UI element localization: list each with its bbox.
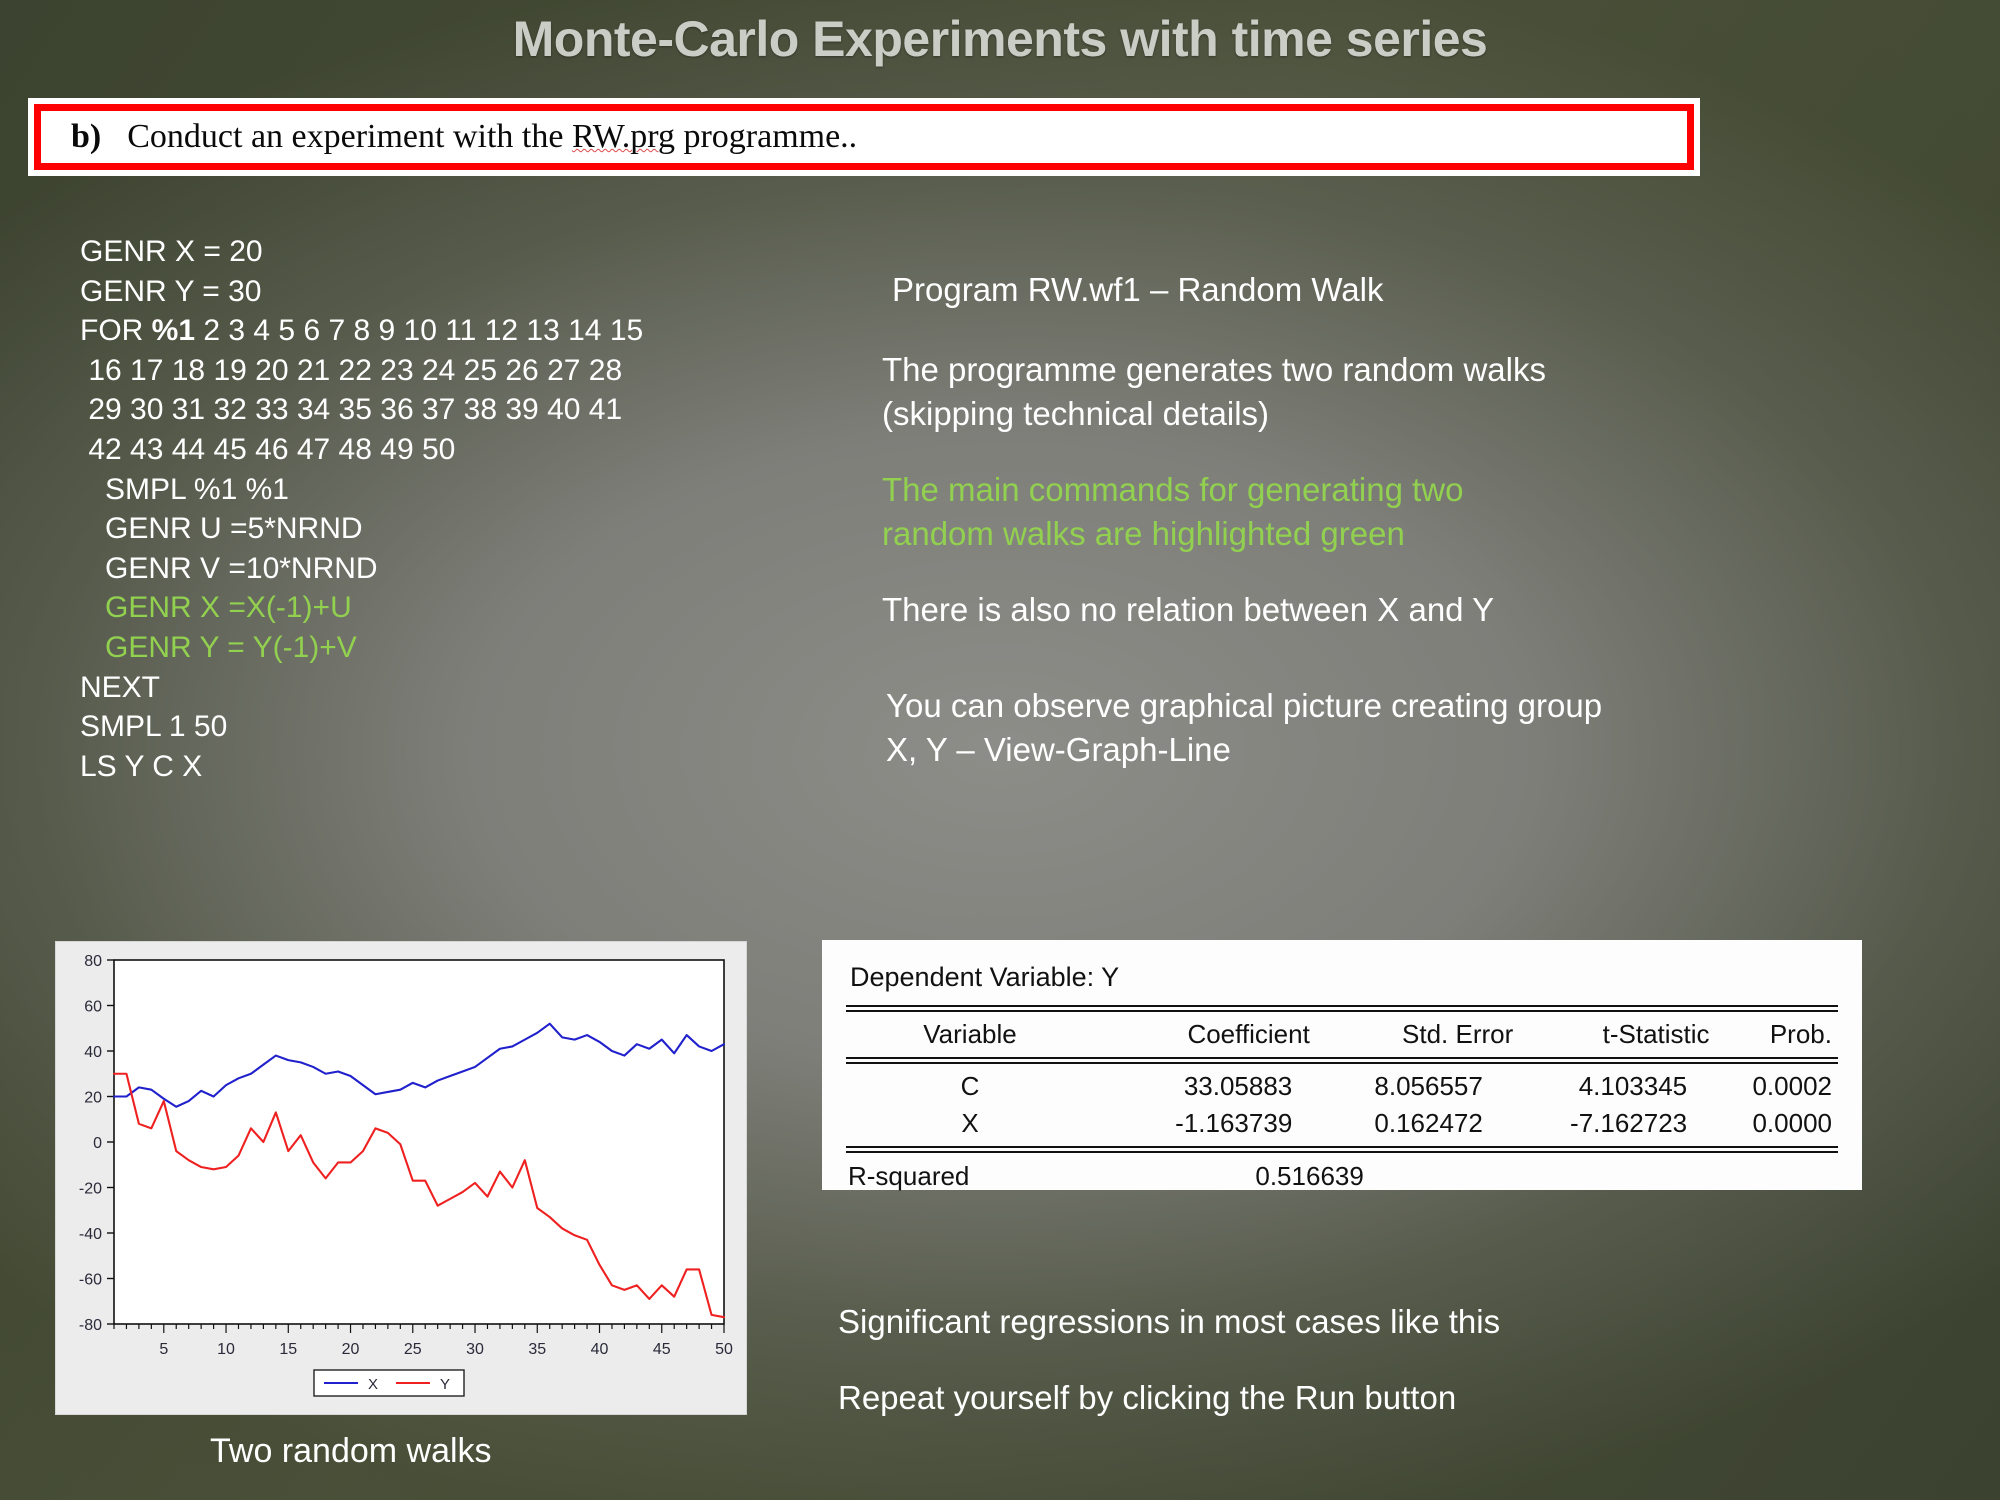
header-callout-text: b)Conduct an experiment with the RW.prg …	[41, 118, 857, 156]
plot-frame	[114, 960, 724, 1324]
regression-table-body: C33.058838.0565574.1033450.0002X-1.16373…	[846, 1068, 1838, 1142]
rsquared-value: 0.516639	[1096, 1161, 1364, 1192]
random-walk-chart: -80-60-40-200204060805101520253035404550…	[56, 942, 746, 1414]
regression-footer: R-squared 0.516639	[846, 1161, 1838, 1192]
x-tick-label: 5	[159, 1341, 168, 1358]
table-cell: 33.05883	[1094, 1068, 1298, 1105]
table-rule-top	[846, 1005, 1838, 1012]
y-tick-label: -60	[79, 1272, 102, 1289]
note-no-relation: There is also no relation between X and …	[882, 588, 1932, 632]
table-cell: -1.163739	[1094, 1105, 1298, 1142]
code-line: GENR X =X(-1)+U	[80, 588, 840, 628]
legend-label-Y: Y	[440, 1376, 450, 1393]
note-program-title: Program RW.wf1 – Random Walk	[892, 268, 1942, 312]
regression-table: Variable Coefficient Std. Error t-Statis…	[846, 1016, 1838, 1053]
code-line: 42 43 44 45 46 47 48 49 50	[80, 430, 840, 470]
y-tick-label: 60	[84, 999, 102, 1016]
note-observe-graph: You can observe graphical picture creati…	[886, 684, 1946, 772]
y-tick-label: 0	[93, 1135, 102, 1152]
header-text-before: Conduct an experiment with the	[127, 118, 572, 155]
col-header-std-error: Std. Error	[1316, 1016, 1519, 1053]
y-tick-label: -20	[79, 1181, 102, 1198]
table-rule-bottom	[846, 1146, 1838, 1153]
x-tick-label: 15	[279, 1341, 297, 1358]
header-text-filename: RW.prg	[572, 118, 675, 155]
y-tick-label: 20	[84, 1090, 102, 1107]
header-callout-inner: b)Conduct an experiment with the RW.prg …	[34, 104, 1694, 170]
y-tick-label: -80	[79, 1317, 102, 1334]
header-callout-box: b)Conduct an experiment with the RW.prg …	[28, 98, 1700, 176]
col-header-coefficient: Coefficient	[1094, 1016, 1316, 1053]
y-tick-label: 40	[84, 1044, 102, 1061]
rsquared-label: R-squared	[846, 1161, 1096, 1192]
note-repeat-run: Repeat yourself by clicking the Run butt…	[838, 1376, 1938, 1420]
header-item-label: b)	[71, 118, 101, 155]
table-row: C33.058838.0565574.1033450.0002	[846, 1068, 1838, 1105]
col-header-t-statistic: t-Statistic	[1519, 1016, 1715, 1053]
dependent-variable-label: Dependent Variable: Y	[850, 962, 1838, 993]
x-tick-label: 40	[591, 1341, 609, 1358]
x-tick-label: 50	[715, 1341, 733, 1358]
table-row: X-1.1637390.162472-7.1627230.0000	[846, 1105, 1838, 1142]
code-line: SMPL %1 %1	[80, 470, 840, 510]
slide-root: Monte-Carlo Experiments with time series…	[0, 0, 2000, 1500]
x-tick-label: 35	[528, 1341, 546, 1358]
x-tick-label: 25	[404, 1341, 422, 1358]
table-rule-mid	[846, 1057, 1838, 1064]
y-tick-label: 80	[84, 953, 102, 970]
code-line: 16 17 18 19 20 21 22 23 24 25 26 27 28	[80, 351, 840, 391]
note-significant-regressions: Significant regressions in most cases li…	[838, 1300, 1938, 1344]
note-generates: The programme generates two random walks…	[882, 348, 1902, 436]
code-line: LS Y C X	[80, 747, 840, 787]
code-line: FOR %1 2 3 4 5 6 7 8 9 10 11 12 13 14 15	[80, 311, 840, 351]
note-green-highlight: The main commands for generating two ran…	[882, 468, 1902, 556]
table-cell: 0.162472	[1298, 1105, 1489, 1142]
table-cell: 0.0000	[1693, 1105, 1838, 1142]
code-line: NEXT	[80, 668, 840, 708]
code-line: SMPL 1 50	[80, 707, 840, 747]
table-cell: X	[846, 1105, 1094, 1142]
col-header-variable: Variable	[846, 1016, 1094, 1053]
chart-caption: Two random walks	[210, 1432, 492, 1471]
regression-output-panel: Dependent Variable: Y Variable Coefficie…	[822, 940, 1862, 1190]
x-tick-label: 20	[342, 1341, 360, 1358]
table-cell: 4.103345	[1489, 1068, 1693, 1105]
table-cell: C	[846, 1068, 1094, 1105]
code-line: GENR Y = Y(-1)+V	[80, 628, 840, 668]
code-line: 29 30 31 32 33 34 35 36 37 38 39 40 41	[80, 390, 840, 430]
table-cell: 0.0002	[1693, 1068, 1838, 1105]
eviews-program-code: GENR X = 20GENR Y = 30FOR %1 2 3 4 5 6 7…	[80, 232, 840, 786]
x-tick-label: 45	[653, 1341, 671, 1358]
y-tick-label: -40	[79, 1226, 102, 1243]
x-tick-label: 30	[466, 1341, 484, 1358]
table-cell: 8.056557	[1298, 1068, 1489, 1105]
code-line: GENR V =10*NRND	[80, 549, 840, 589]
code-line: GENR X = 20	[80, 232, 840, 272]
col-header-prob: Prob.	[1716, 1016, 1838, 1053]
x-tick-label: 10	[217, 1341, 235, 1358]
header-text-after: programme..	[675, 118, 857, 155]
code-line: GENR Y = 30	[80, 272, 840, 312]
table-cell: -7.162723	[1489, 1105, 1693, 1142]
page-title: Monte-Carlo Experiments with time series	[0, 10, 2000, 68]
code-line: GENR U =5*NRND	[80, 509, 840, 549]
table-header-row: Variable Coefficient Std. Error t-Statis…	[846, 1016, 1838, 1053]
chart-svg: -80-60-40-200204060805101520253035404550…	[56, 942, 746, 1414]
legend-label-X: X	[368, 1376, 378, 1393]
